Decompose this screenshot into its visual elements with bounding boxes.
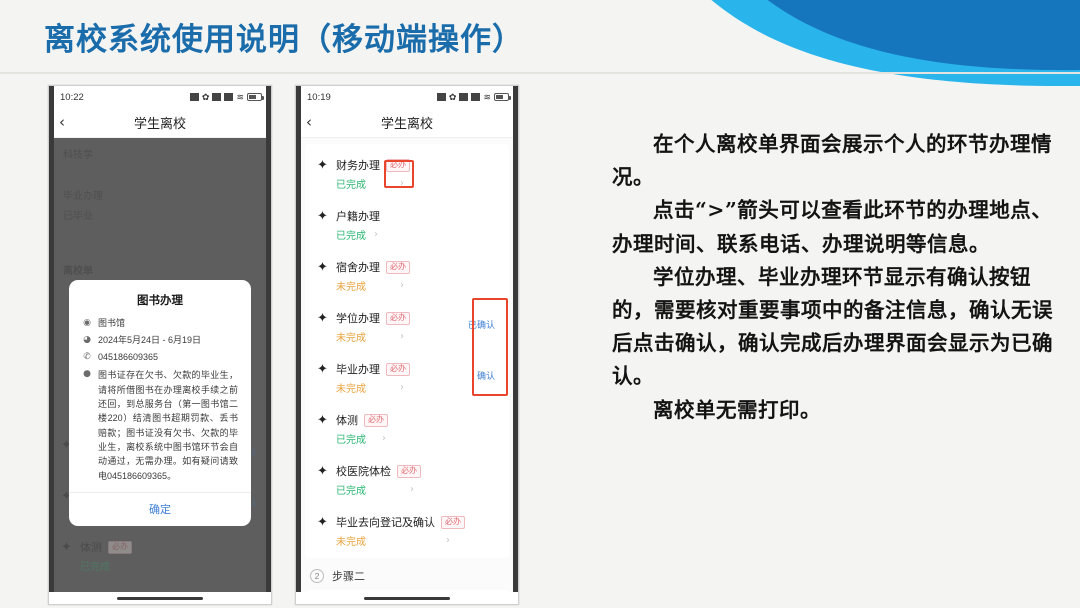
must-badge: 必办: [386, 261, 410, 274]
gear-icon: ✿: [202, 92, 210, 103]
process-icon: ✦: [317, 261, 330, 274]
phone-screenshot-left: 10:22 ✿ ≋ ‹ 学生离校 科技学 毕业办理 已毕业 离校单 ✦ 学位办理: [48, 85, 272, 605]
must-badge: 必办: [386, 312, 410, 325]
process-icon: ✦: [317, 210, 330, 223]
signal-icon-1: [437, 93, 446, 101]
chevron-right-icon[interactable]: ›: [382, 433, 386, 444]
process-icon: ✦: [317, 312, 330, 325]
title-divider: [0, 72, 1080, 74]
step2-header: 2 步骤二: [296, 558, 518, 590]
list-item[interactable]: ✦ 宿舍办理 必办 未完成 ›: [305, 250, 509, 301]
item-status: 未完成: [336, 278, 366, 293]
must-badge: 必办: [408, 605, 432, 606]
item-status: 未完成: [336, 533, 366, 548]
must-badge: 必办: [397, 465, 421, 478]
modal-time-row: ◕ 2024年5月24日 - 6月19日: [82, 334, 238, 347]
item-name: 毕业去向登记及确认: [336, 514, 435, 530]
phone-icon: ✆: [82, 351, 92, 364]
step-label: 步骤二: [332, 568, 365, 584]
item-status: 已完成: [336, 482, 366, 497]
modal-ok-button[interactable]: 确定: [82, 493, 238, 526]
confirmed-button[interactable]: 已确认: [468, 318, 495, 331]
modal-location-row: ◉ 图书馆: [82, 317, 238, 330]
item-status: 已完成: [336, 227, 366, 242]
modal-note: 图书证存在欠书、欠款的毕业生，请将所借图书在办理离校手续之前还回，到总服务台（第…: [98, 368, 238, 483]
phone-frame-left-edge: [49, 86, 54, 604]
process-icon: ✦: [317, 465, 330, 478]
wifi-icon: ≋: [483, 92, 491, 103]
list-item[interactable]: ✦ 户籍办理 已完成 ›: [305, 199, 509, 250]
item-name: 校医院体检: [336, 463, 391, 479]
must-badge: 必办: [386, 363, 410, 376]
nav-title: 学生离校: [296, 113, 518, 132]
list-item[interactable]: ✦ 毕业去向登记及确认 必办 未完成 ›: [305, 505, 509, 556]
back-icon[interactable]: ‹: [306, 115, 312, 130]
paragraph-3: 学位办理、毕业办理环节显示有确认按钮的，需要核对重要事项中的备注信息，确认无误后…: [612, 261, 1064, 394]
status-time: 10:19: [307, 92, 331, 103]
item-status: 已完成: [80, 558, 110, 573]
status-icons: ✿ ≋: [190, 92, 262, 103]
status-time: 10:22: [60, 92, 84, 103]
phone-frame-right-edge: [513, 86, 518, 604]
signal-icon-2: [212, 93, 221, 101]
phone-frame-right-edge: [266, 86, 271, 604]
signal-icon-3: [224, 93, 233, 101]
list-item[interactable]: ✦ 财务办理 必办 已完成 ›: [305, 148, 509, 199]
status-icons: ✿ ≋: [437, 92, 509, 103]
modal-title: 图书办理: [82, 292, 238, 308]
nav-bar: ‹ 学生离校: [296, 108, 518, 138]
chevron-right-icon[interactable]: ›: [400, 331, 404, 342]
item-status: 已完成: [336, 431, 366, 446]
item-name: 体测: [80, 539, 102, 555]
must-badge: 必办: [386, 159, 410, 172]
signal-icon-1: [190, 93, 199, 101]
step-number-badge: 2: [310, 569, 324, 583]
item-name: 体测: [336, 412, 358, 428]
battery-icon: [247, 93, 262, 101]
wifi-icon: ≋: [236, 92, 244, 103]
process-icon: ✦: [317, 605, 330, 606]
chevron-right-icon[interactable]: ›: [400, 178, 404, 189]
step1-list-card: ✦ 财务办理 必办 已完成 › ✦ 户籍办理 已完成 ›: [305, 144, 509, 558]
battery-icon: [494, 93, 509, 101]
paragraph-1: 在个人离校单界面会展示个人的环节办理情况。: [612, 128, 1064, 194]
chevron-right-icon[interactable]: ›: [374, 229, 378, 240]
nav-bar: ‹ 学生离校: [49, 108, 271, 138]
home-indicator-bar: [296, 592, 518, 605]
item-status: 未完成: [336, 329, 366, 344]
list-item[interactable]: ✦ 体测 必办 已完成 ›: [305, 403, 509, 454]
chevron-right-icon[interactable]: ›: [446, 535, 450, 546]
item-status: 已完成: [336, 176, 366, 191]
screen-body-left: 科技学 毕业办理 已毕业 离校单 ✦ 学位办理 必办 未完成 › 已确认: [49, 138, 271, 605]
phone-frame-left-edge: [296, 86, 301, 604]
process-icon: ✦: [61, 541, 74, 554]
chevron-right-icon[interactable]: ›: [400, 382, 404, 393]
description-text: 在个人离校单界面会展示个人的环节办理情况。 点击“>”箭头可以查看此环节的办理地…: [612, 128, 1064, 427]
gear-icon: ✿: [449, 92, 457, 103]
must-badge: 必办: [108, 541, 132, 554]
item-name: 宿舍办理: [336, 259, 380, 275]
back-icon[interactable]: ‹: [59, 115, 65, 130]
item-name: 学位办理: [336, 310, 380, 326]
process-icon: ✦: [317, 414, 330, 427]
nav-title: 学生离校: [49, 113, 271, 132]
item-name: 财务办理: [336, 157, 380, 173]
phone-screenshot-right: 10:19 ✿ ≋ ‹ 学生离校 ✦ 财务办理 必办 已完成 ›: [295, 85, 519, 605]
modal-phone-row: ✆ 045186609365: [82, 351, 238, 364]
chevron-right-icon[interactable]: ›: [400, 280, 404, 291]
paragraph-2: 点击“>”箭头可以查看此环节的办理地点、办理时间、联系电话、办理说明等信息。: [612, 194, 1064, 260]
item-name: 毕业办理: [336, 361, 380, 377]
signal-icon-3: [471, 93, 480, 101]
location-pin-icon: ◉: [82, 317, 92, 330]
modal-phone: 045186609365: [98, 351, 158, 364]
home-indicator-bar: [49, 592, 271, 605]
list-item[interactable]: ✦ 毕业办理 必办 未完成 › 确认: [305, 352, 509, 403]
status-bar: 10:19 ✿ ≋: [296, 86, 518, 108]
status-bar: 10:22 ✿ ≋: [49, 86, 271, 108]
process-icon: ✦: [317, 363, 330, 376]
must-badge: 必办: [441, 516, 465, 529]
item-name: 户籍办理: [336, 208, 380, 224]
chevron-right-icon[interactable]: ›: [410, 484, 414, 495]
list-item[interactable]: ✦ 体测 必办 已完成: [49, 530, 271, 581]
modal-note-row: ● 图书证存在欠书、欠款的毕业生，请将所借图书在办理离校手续之前还回，到总服务台…: [82, 368, 238, 483]
page-title: 离校系统使用说明（移动端操作）: [44, 14, 524, 59]
paragraph-4: 离校单无需打印。: [612, 394, 1064, 427]
list-item[interactable]: ✦ 校医院体检 必办 已完成 ›: [305, 454, 509, 505]
confirm-button[interactable]: 确认: [477, 369, 495, 382]
signal-icon-2: [459, 93, 468, 101]
process-icon: ✦: [317, 159, 330, 172]
bullet-icon: ●: [82, 368, 92, 381]
screen-body-right: ✦ 财务办理 必办 已完成 › ✦ 户籍办理 已完成 ›: [296, 138, 518, 605]
modal-location: 图书馆: [98, 317, 125, 330]
must-badge: 必办: [364, 414, 388, 427]
detail-modal: 图书办理 ◉ 图书馆 ◕ 2024年5月24日 - 6月19日 ✆ 045186…: [69, 280, 251, 526]
list-item[interactable]: ✦ 学位办理 必办 未完成 › 已确认: [305, 301, 509, 352]
modal-time: 2024年5月24日 - 6月19日: [98, 334, 201, 347]
clock-icon: ◕: [82, 334, 92, 347]
item-status: 未完成: [336, 380, 366, 395]
process-icon: ✦: [317, 516, 330, 529]
